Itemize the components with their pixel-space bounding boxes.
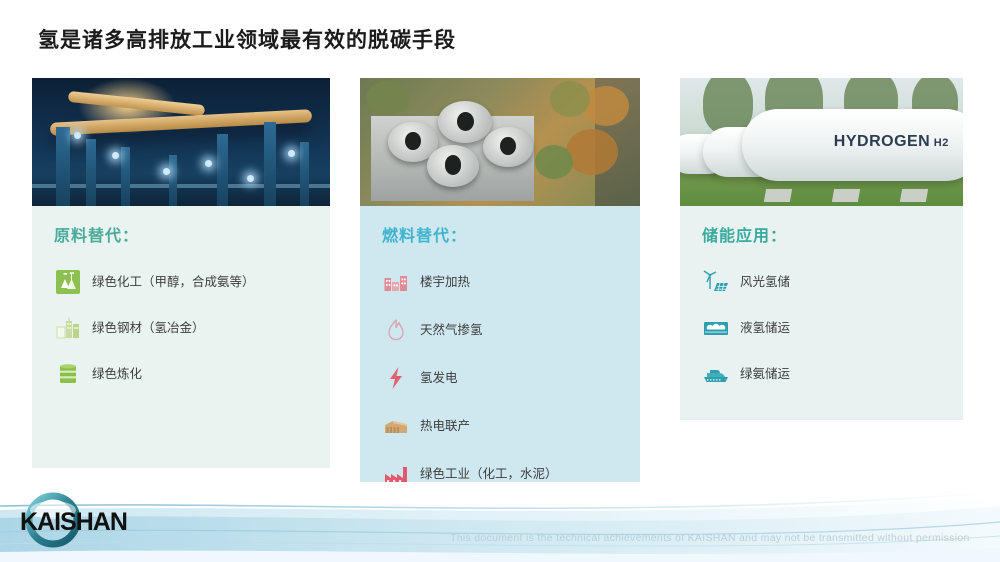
list-item-label: 绿色炼化: [92, 367, 142, 382]
card-heading: 燃料替代：: [382, 222, 640, 246]
list-item-label: 绿色化工（甲醇，合成氨等）: [92, 275, 255, 290]
kaishan-logo: KAISHAN: [8, 488, 160, 552]
list-item-label: 风光氢储: [740, 275, 790, 290]
list-item[interactable]: 氢发电: [382, 364, 640, 392]
storage-tank-icon: [702, 314, 730, 342]
logo-wordmark: KAISHAN: [20, 508, 127, 537]
list-item-label: 绿氨储运: [740, 367, 790, 382]
list-item[interactable]: 液氢储运: [702, 314, 963, 342]
list-item[interactable]: 天然气掺氢: [382, 316, 640, 344]
card-heading: 储能应用：: [702, 222, 963, 246]
card-fuel-substitution: 燃料替代：: [360, 78, 640, 482]
item-list: 风光氢储 液氢储运: [702, 268, 963, 388]
oil-drum-icon: [54, 360, 82, 388]
card-raw-material-substitution: 原料替代： 绿色化工（甲醇，合成氨等）: [32, 78, 330, 468]
card-heading: 原料替代：: [54, 222, 330, 246]
list-item[interactable]: 绿色钢材（氢冶金）: [54, 314, 330, 342]
list-item-label: 天然气掺氢: [420, 323, 483, 338]
list-item[interactable]: 风光氢储: [702, 268, 963, 296]
list-item[interactable]: 绿色炼化: [54, 360, 330, 388]
list-item-label: 热电联产: [420, 419, 470, 434]
list-item-label: 绿色钢材（氢冶金）: [92, 321, 205, 336]
list-item-label: 氢发电: [420, 371, 458, 386]
lightning-bolt-icon: [382, 364, 410, 392]
list-item[interactable]: 绿氨储运: [702, 360, 963, 388]
confidentiality-notice: This document is the technical achieveme…: [450, 532, 970, 544]
hydrogen-tanks-photo: HYDROGEN H2: [680, 78, 963, 206]
apartment-buildings-icon: [382, 268, 410, 296]
list-item-label: 楼宇加热: [420, 275, 470, 290]
warehouse-icon: [382, 412, 410, 440]
cooling-towers-aerial-photo: [360, 78, 640, 206]
item-list: 绿色化工（甲醇，合成氨等）: [54, 268, 330, 388]
page-title: 氢是诸多高排放工业领域最有效的脱碳手段: [38, 24, 456, 54]
refinery-night-photo: [32, 78, 330, 206]
card-energy-storage-applications: HYDROGEN H2 储能应用：: [680, 78, 963, 420]
factory-buildings-icon: [54, 314, 82, 342]
list-item[interactable]: 热电联产: [382, 412, 640, 440]
list-item-label: 液氢储运: [740, 321, 790, 336]
ship-icon: [702, 360, 730, 388]
slide-canvas: 氢是诸多高排放工业领域最有效的脱碳手段: [0, 0, 1000, 562]
flame-outline-icon: [382, 316, 410, 344]
photo-caption: HYDROGEN H2: [834, 133, 949, 151]
flask-icon: [54, 268, 82, 296]
item-list: 楼宇加热 天然气掺氢 氢发电: [382, 268, 640, 482]
list-item[interactable]: 楼宇加热: [382, 268, 640, 296]
list-item[interactable]: 绿色化工（甲醇，合成氨等）: [54, 268, 330, 296]
wind-solar-icon: [702, 268, 730, 296]
